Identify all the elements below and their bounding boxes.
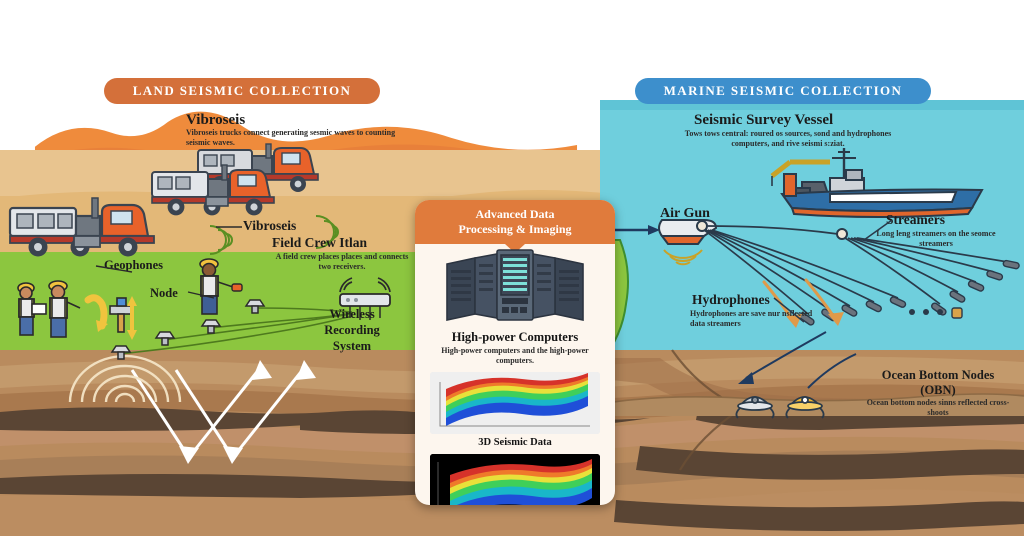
panel-header-line1: Advanced Data xyxy=(475,207,554,222)
high-power-computers-title: High-power Computers xyxy=(415,330,615,345)
field-crew-title: Field Crew Itlan xyxy=(272,235,367,251)
survey-worker-pair xyxy=(6,278,84,340)
hydrophones-title: Hydrophones xyxy=(692,292,770,308)
vibroseis-desc: Vibroseis trucks connect generating sesm… xyxy=(186,128,402,148)
seismic-thumbnail-1 xyxy=(430,372,600,434)
vibroseis-title: Vibroseis xyxy=(186,112,245,129)
wireless-recording-label: Wireless Recording System xyxy=(304,306,400,354)
obn-title: Ocean Bottom Nodes xyxy=(858,368,1018,383)
panel-header: Advanced Data Processing & Imaging xyxy=(415,200,615,244)
air-gun-label: Air Gun xyxy=(660,206,710,222)
obn-desc: Ocean bottom nodes sinns reflected cross… xyxy=(860,398,1016,418)
land-section-header: LAND SEISMIC COLLECTION xyxy=(104,78,380,104)
high-power-computers-desc: High-power computers and the high-power … xyxy=(415,346,615,366)
thumbnail-1-caption: 3D Seismic Data xyxy=(415,437,615,448)
seismic-thumbnail-2 xyxy=(430,454,600,505)
streamers-leader xyxy=(862,216,896,246)
obn-label-leader xyxy=(800,352,860,392)
server-racks-illustration xyxy=(445,250,585,326)
panel-header-line2: Processing & Imaging xyxy=(458,222,571,237)
node-label: Node xyxy=(150,286,178,301)
vibroseis-truck-2 xyxy=(150,162,282,216)
hydrophones-leader xyxy=(774,296,808,326)
vibroseis-label-2: Vibroseis xyxy=(243,218,296,234)
obn-subtitle: (OBN) xyxy=(858,383,1018,398)
vessel-desc: Tows tows central: roured os sources, so… xyxy=(680,129,896,149)
air-gun-pointer-arrow xyxy=(612,222,662,238)
vessel-title: Seismic Survey Vessel xyxy=(694,112,833,129)
infographic-canvas: LAND SEISMIC COLLECTION Vibroseis Vibros… xyxy=(0,0,1024,536)
advanced-processing-panel: Advanced Data Processing & Imaging xyxy=(415,200,615,505)
vibroseis-truck-3 xyxy=(8,196,168,256)
vibroseis-leader xyxy=(216,222,246,232)
node-leader xyxy=(188,290,218,304)
field-crew-desc: A field crew places places and connects … xyxy=(270,252,414,272)
marine-section-header: MARINE SEISMIC COLLECTION xyxy=(635,78,931,104)
geophones-leader xyxy=(96,262,136,276)
